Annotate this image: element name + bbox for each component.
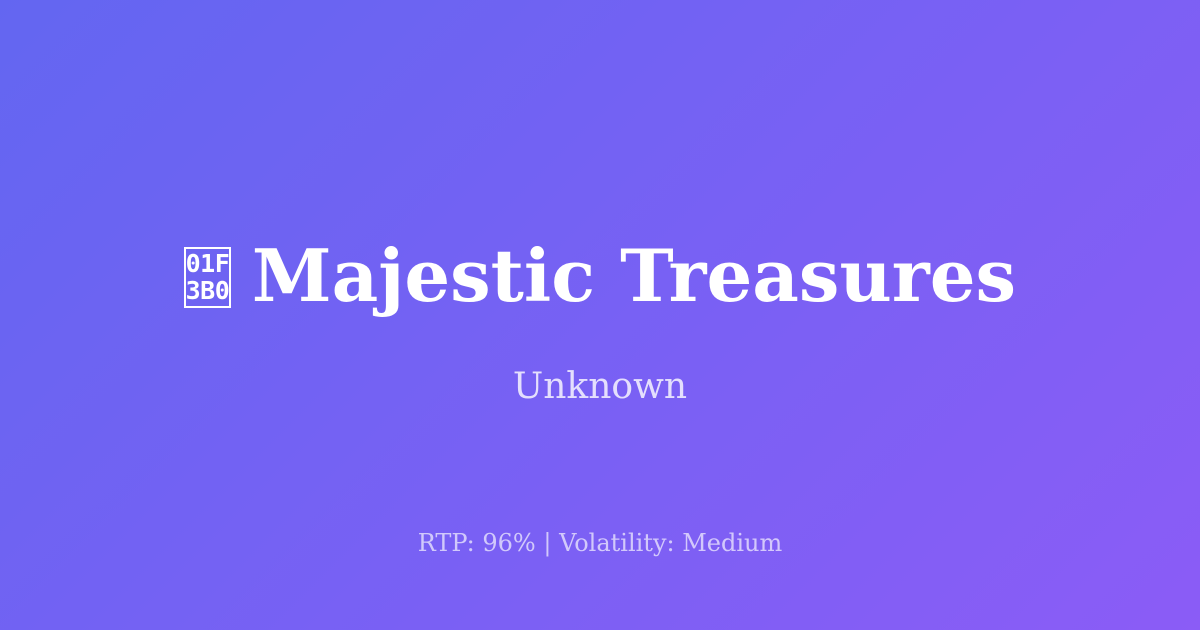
game-meta-line: RTP: 96% | Volatility: Medium xyxy=(0,527,1200,559)
game-preview-card: 01F 3B0 Majestic Treasures Unknown RTP: … xyxy=(0,0,1200,630)
slot-machine-emoji-icon: 01F 3B0 xyxy=(184,247,231,308)
tofu-codepoint-bottom: 3B0 xyxy=(186,277,230,304)
provider-name: Unknown xyxy=(0,361,1200,413)
tofu-codepoint-top: 01F xyxy=(186,250,230,277)
game-title: Majestic Treasures xyxy=(252,240,1016,312)
